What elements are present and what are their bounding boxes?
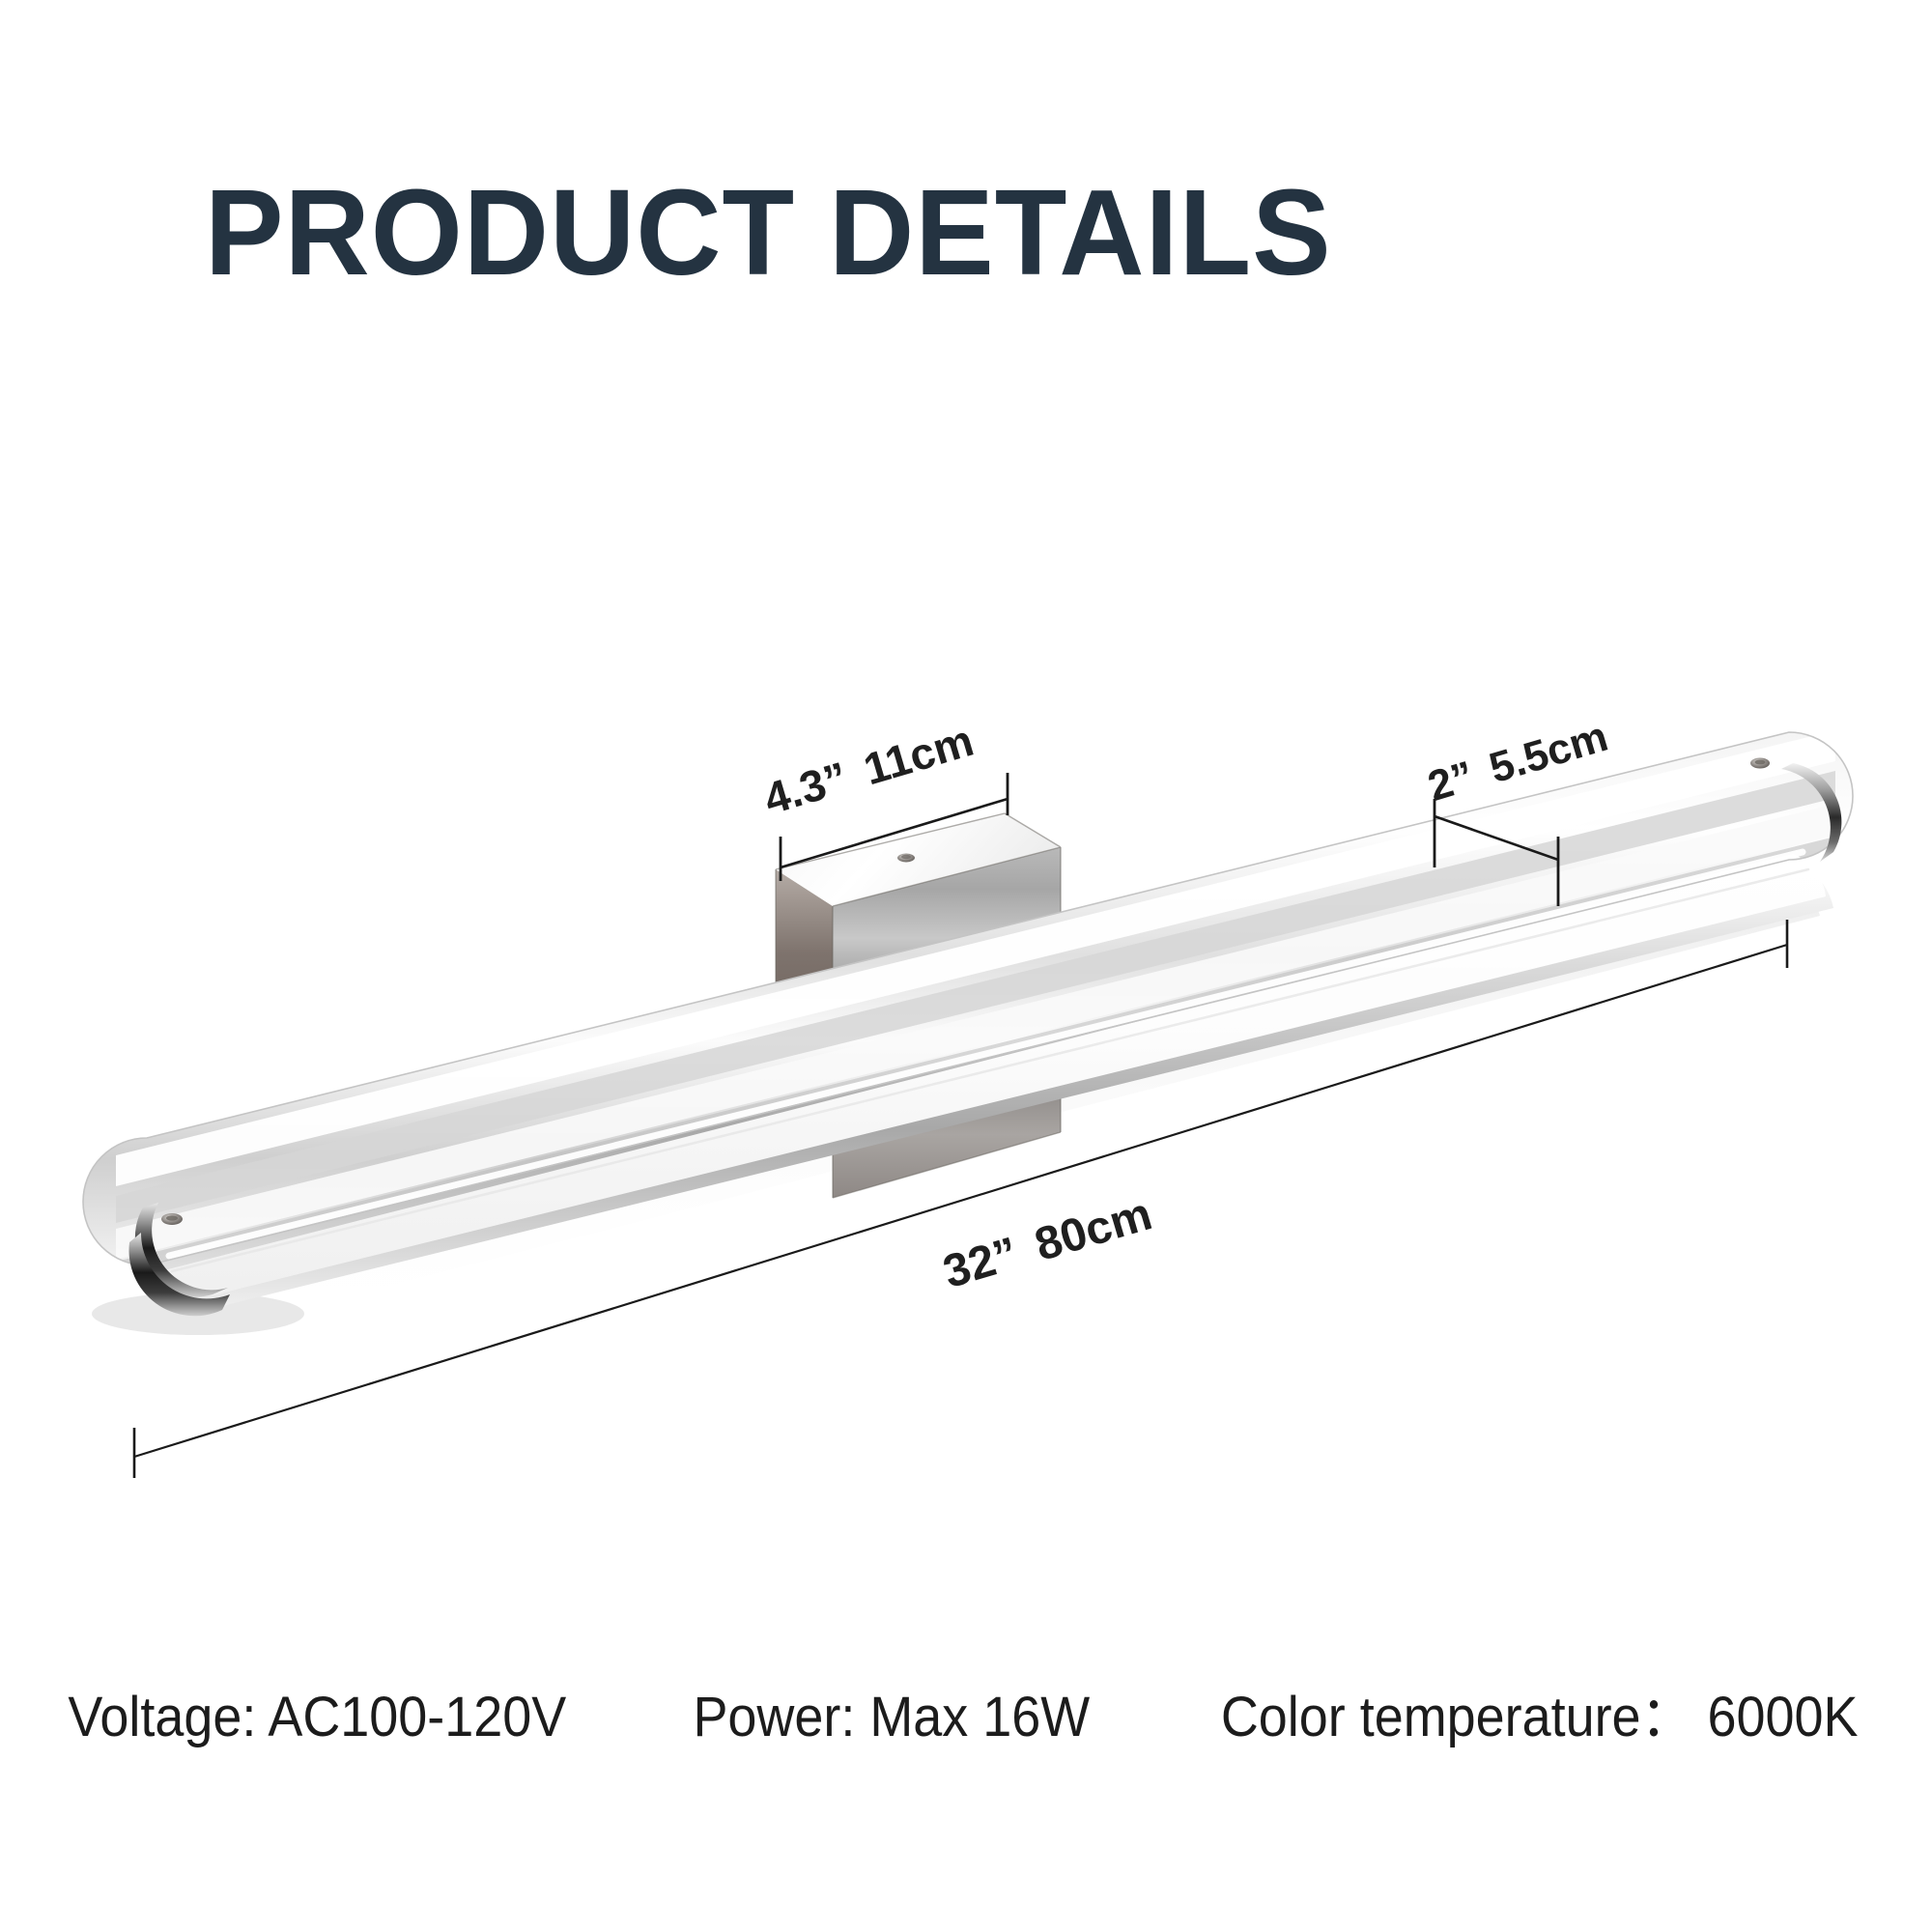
left-end-screw-icon bbox=[161, 1213, 183, 1225]
product-details-page: PRODUCT DETAILS bbox=[0, 0, 1932, 1932]
spec-power: Power: Max 16W bbox=[693, 1685, 1090, 1749]
box-top-screw-icon bbox=[897, 854, 915, 863]
right-end-screw-icon bbox=[1750, 758, 1770, 769]
specifications-row: Voltage: AC100-120V Power: Max 16W Color… bbox=[0, 1671, 1932, 1752]
light-bar bbox=[83, 730, 1853, 1316]
spec-voltage: Voltage: AC100-120V bbox=[69, 1685, 567, 1749]
product-illustration bbox=[0, 0, 1932, 1932]
spec-color-temperature: Color temperature： 6000K bbox=[1221, 1671, 1859, 1752]
